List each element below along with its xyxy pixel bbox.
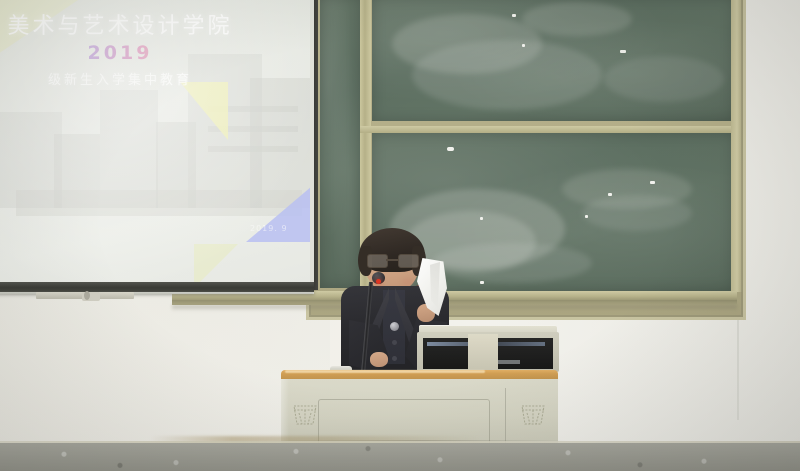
eyeglass-lens-right bbox=[398, 254, 419, 268]
lectern-emblem-left bbox=[291, 401, 319, 427]
granite-baseboard bbox=[0, 443, 800, 471]
microphone-indicator-light bbox=[376, 279, 381, 284]
pendant-necklace bbox=[390, 322, 399, 331]
projection-screen: 美术与艺术设计学院 2019 级新生入学集中教育 2019. 9 bbox=[0, 0, 314, 299]
projection-screen-surface: 美术与艺术设计学院 2019 级新生入学集中教育 2019. 9 bbox=[0, 0, 310, 286]
monitor-center-riser bbox=[468, 334, 498, 372]
eyeglass-lens-left bbox=[367, 254, 388, 268]
eyeglasses bbox=[367, 254, 417, 267]
speaker-hand-left bbox=[370, 352, 388, 367]
speaker-cheek bbox=[402, 278, 414, 286]
projected-year: 2019 bbox=[0, 42, 242, 64]
monitor-label-strip bbox=[498, 360, 520, 364]
projection-screen-weight-bar[interactable] bbox=[0, 282, 314, 292]
projected-subtitle: 级新生入学集中教育 bbox=[0, 69, 242, 88]
projected-date-stamp: 2019. 9 bbox=[250, 224, 306, 233]
projected-title: 美术与艺术设计学院 bbox=[0, 8, 242, 40]
lectern-top-highlight bbox=[285, 370, 485, 373]
lecture-hall-photo: 美术与艺术设计学院 2019 级新生入学集中教育 2019. 9 bbox=[0, 0, 800, 471]
jacket-button bbox=[392, 356, 397, 361]
projection-screen-bracket bbox=[84, 291, 90, 300]
eyeglass-bridge bbox=[386, 259, 398, 261]
jacket-button bbox=[392, 340, 397, 345]
lectern-emblem-right bbox=[519, 401, 547, 427]
